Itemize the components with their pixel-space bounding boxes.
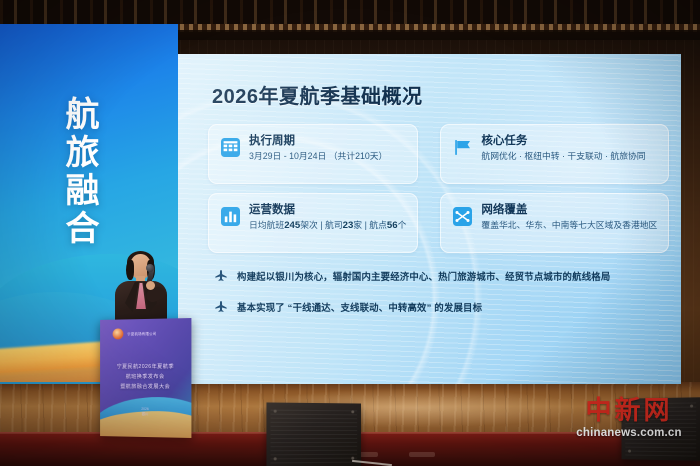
- microphone-head-icon: [146, 264, 154, 272]
- watermark-logo-text: 中新网: [566, 398, 692, 425]
- podium-logo-text: 宁夏机场有限公司: [127, 331, 156, 336]
- stat-unit-3: 个: [398, 220, 407, 230]
- speaker-hand: [146, 281, 155, 290]
- card-detail: 覆盖华北、华东、中南等七大区域及香港地区: [481, 220, 657, 232]
- banner-char-4: 合: [50, 210, 116, 248]
- podium-logo: 宁夏机场有限公司: [113, 328, 157, 340]
- watermark-url: chinanews.com.cn: [566, 427, 692, 439]
- airplane-icon: [214, 269, 228, 283]
- bar-chart-icon: [220, 206, 240, 226]
- speaker-person: [110, 254, 172, 326]
- banner-title-vertical: 航 旅 融 合: [50, 96, 116, 248]
- card-core-tasks: 核心任务 航网优化 · 枢纽中转 · 干支联动 · 航旅协同: [440, 124, 669, 184]
- banner-char-1: 航: [50, 96, 116, 134]
- podium-date: 2026 银川: [100, 407, 191, 419]
- slide-card-grid: 执行周期 3月29日 - 10月24日 （共计210天） 核心任务 航网: [208, 124, 653, 253]
- stat-value-3: 56: [387, 220, 398, 231]
- network-icon: [452, 206, 472, 226]
- podium-title-line-3: 暨航旅融合发展大会: [100, 383, 191, 393]
- card-heading: 运营数据: [249, 203, 406, 217]
- stat-label-1: 日均航班: [249, 220, 284, 230]
- card-heading: 核心任务: [481, 134, 645, 148]
- card-detail-stats: 日均航班245架次 | 航司23家 | 航点56个: [249, 220, 406, 233]
- card-operating-data: 运营数据 日均航班245架次 | 航司23家 | 航点56个: [208, 193, 418, 253]
- banner-char-2: 旅: [50, 134, 116, 172]
- stage-lip-marking: [409, 452, 435, 457]
- stat-unit-2: 家: [353, 220, 362, 230]
- calendar-icon: [220, 137, 240, 157]
- card-execution-period: 执行周期 3月29日 - 10月24日 （共计210天）: [208, 124, 418, 184]
- card-heading: 执行周期: [249, 134, 387, 148]
- stat-unit-1: 架次: [300, 220, 318, 230]
- podium: 宁夏机场有限公司 宁夏民航2026年夏航季 航班换季发布会 暨航旅融合发展大会 …: [100, 318, 191, 438]
- flag-icon: [452, 137, 472, 157]
- slide-bullet-list: 构建起以银川为核心，辐射国内主要经济中心、热门旅游城市、经贸节点城市的航线格局 …: [208, 269, 653, 314]
- stage-monitor-speaker: [266, 402, 361, 466]
- bullet-item: 基本实现了 “干线通达、支线联动、中转高效” 的发展目标: [214, 300, 653, 314]
- stat-value-2: 23: [343, 220, 354, 231]
- airline-logo-icon: [113, 328, 124, 339]
- card-detail: 3月29日 - 10月24日 （共计210天）: [249, 151, 387, 163]
- banner-char-3: 融: [50, 172, 116, 210]
- ceiling-pattern: [0, 0, 700, 24]
- podium-title-line-1: 宁夏民航2026年夏航季: [100, 363, 191, 373]
- stat-label-3: 航点: [369, 220, 387, 230]
- card-detail: 航网优化 · 枢纽中转 · 干支联动 · 航旅协同: [481, 151, 645, 163]
- bullet-item: 构建起以银川为核心，辐射国内主要经济中心、热门旅游城市、经贸节点城市的航线格局: [214, 269, 653, 283]
- speaker-grill: [271, 407, 358, 464]
- watermark: 中新网 chinanews.com.cn: [566, 398, 692, 454]
- stage-photo-scene: 航 旅 融 合 2026年夏航季基础概况: [0, 0, 700, 466]
- slide-title: 2026年夏航季基础概况: [212, 80, 653, 109]
- led-presentation-slide: 2026年夏航季基础概况: [178, 54, 681, 384]
- stat-value-1: 245: [284, 220, 300, 231]
- airplane-icon: [214, 300, 228, 314]
- bullet-text: 构建起以银川为核心，辐射国内主要经济中心、热门旅游城市、经贸节点城市的航线格局: [237, 269, 610, 283]
- speaker-hair-left: [126, 260, 134, 280]
- card-heading: 网络覆盖: [481, 203, 657, 217]
- bullet-text: 基本实现了 “干线通达、支线联动、中转高效” 的发展目标: [237, 300, 482, 314]
- podium-title: 宁夏民航2026年夏航季 航班换季发布会 暨航旅融合发展大会: [100, 363, 191, 393]
- card-network-coverage: 网络覆盖 覆盖华北、华东、中南等七大区域及香港地区: [440, 193, 669, 253]
- podium-title-line-2: 航班换季发布会: [100, 373, 191, 383]
- stat-label-2: 航司: [325, 220, 343, 230]
